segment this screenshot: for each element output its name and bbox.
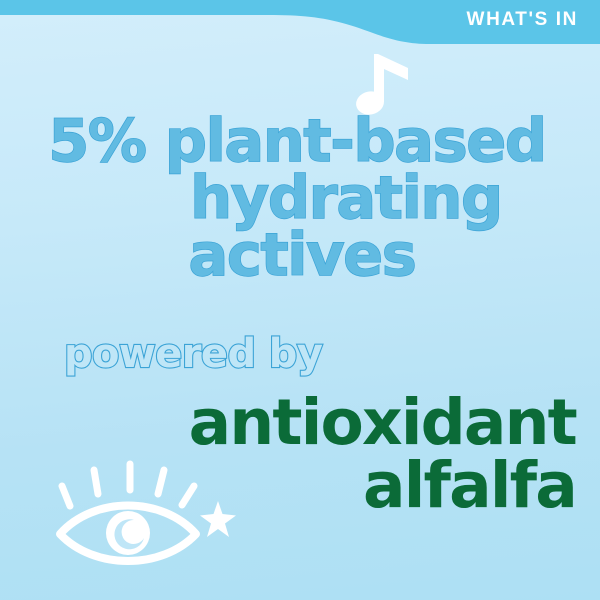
headline: 5% plant-based hydrating actives — [0, 112, 600, 284]
headline-line-2: hydrating — [0, 169, 600, 226]
powered-by-label: powered by — [64, 331, 322, 377]
banner-label: WHAT'S IN — [467, 9, 578, 31]
poster-canvas: WHAT'S IN 5% plant-based hydrating activ… — [0, 0, 600, 600]
headline-line-3: actives — [0, 226, 600, 283]
ingredient-line-2: alfalfa — [0, 454, 576, 517]
headline-line-1: 5% plant-based — [0, 112, 600, 169]
ingredient-line-1: antioxidant — [0, 391, 576, 454]
ingredient-name: antioxidant alfalfa — [0, 391, 600, 517]
